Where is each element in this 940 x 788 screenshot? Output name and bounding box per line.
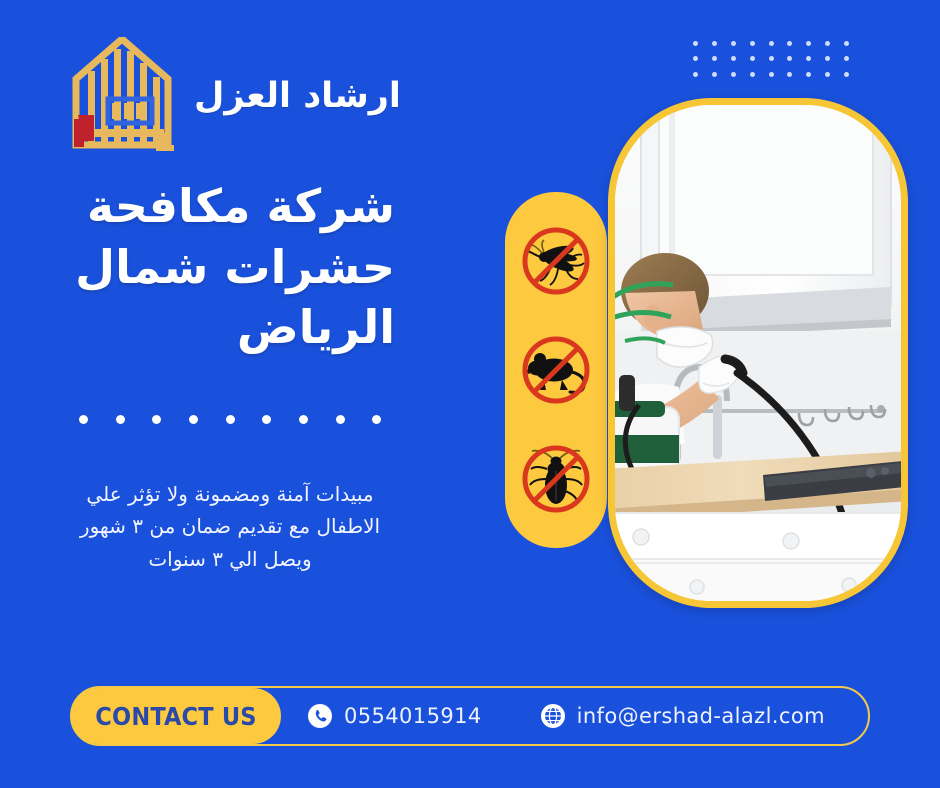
contact-email[interactable]: info@ershad-alazl.com <box>540 703 825 729</box>
grid-dot <box>844 72 849 77</box>
description-line-3: ويصل الي ٣ سنوات <box>65 543 395 575</box>
divider-dot <box>322 415 359 424</box>
grid-dot <box>712 72 717 77</box>
grid-dot <box>750 41 755 46</box>
phone-icon <box>307 703 333 729</box>
grid-dot <box>750 56 755 61</box>
headline-line-2: حشرات شمال <box>65 237 395 298</box>
grid-dot <box>750 72 755 77</box>
description-text: مبيدات آمنة ومضمونة ولا تؤثر علي الاطفال… <box>65 478 395 575</box>
globe-icon <box>540 703 566 729</box>
divider-dot <box>175 415 212 424</box>
email-address: info@ershad-alazl.com <box>577 704 825 728</box>
grid-dot <box>806 56 811 61</box>
grid-dot <box>825 56 830 61</box>
brand-name: ارشاد العزل <box>194 79 401 114</box>
no-rat-icon <box>518 332 594 408</box>
grid-dot <box>787 56 792 61</box>
hero-photo-card <box>608 98 908 608</box>
headline-line-1: شركة مكافحة <box>65 176 395 237</box>
grid-dot <box>731 41 736 46</box>
pest-badge-panel <box>505 192 607 548</box>
grid-dot <box>769 41 774 46</box>
divider-dot <box>285 415 322 424</box>
technician-spraying-photo <box>615 105 901 601</box>
no-mosquito-icon <box>518 223 594 299</box>
brand-header: ارشاد العزل <box>68 36 428 156</box>
grid-dot <box>693 72 698 77</box>
divider-dot <box>248 415 285 424</box>
divider-dot <box>138 415 175 424</box>
phone-number: 0554015914 <box>344 704 482 728</box>
page-title: شركة مكافحة حشرات شمال الرياض <box>65 176 395 358</box>
contact-bar: CONTACT US 0554015914 <box>70 686 870 746</box>
description-line-1: مبيدات آمنة ومضمونة ولا تؤثر علي <box>65 478 395 510</box>
grid-dot <box>769 72 774 77</box>
divider-dot <box>212 415 249 424</box>
grid-dot <box>806 41 811 46</box>
grid-dot <box>712 56 717 61</box>
grid-dot <box>806 72 811 77</box>
grid-dot <box>825 41 830 46</box>
grid-dot <box>693 56 698 61</box>
dot-grid-decoration <box>686 36 856 82</box>
grid-dot <box>787 41 792 46</box>
no-cockroach-icon <box>518 441 594 517</box>
headline-line-3: الرياض <box>65 297 395 358</box>
grid-dot <box>731 56 736 61</box>
grid-dot <box>787 72 792 77</box>
poster-canvas: ارشاد العزل شركة مكافحة حشرات شمال الريا… <box>0 0 940 788</box>
grid-dot <box>731 72 736 77</box>
divider-dot <box>65 415 102 424</box>
description-line-2: الاطفال مع تقديم ضمان من ٣ شهور <box>65 510 395 542</box>
contact-phone[interactable]: 0554015914 <box>307 703 482 729</box>
grid-dot <box>693 41 698 46</box>
grid-dot <box>712 41 717 46</box>
dotted-divider <box>65 412 395 426</box>
grid-dot <box>769 56 774 61</box>
arabic-calligraphy-logo-icon <box>68 37 176 155</box>
contact-us-button[interactable]: CONTACT US <box>71 688 281 744</box>
grid-dot <box>844 41 849 46</box>
grid-dot <box>844 56 849 61</box>
divider-dot <box>102 415 139 424</box>
grid-dot <box>825 72 830 77</box>
divider-dot <box>358 415 395 424</box>
